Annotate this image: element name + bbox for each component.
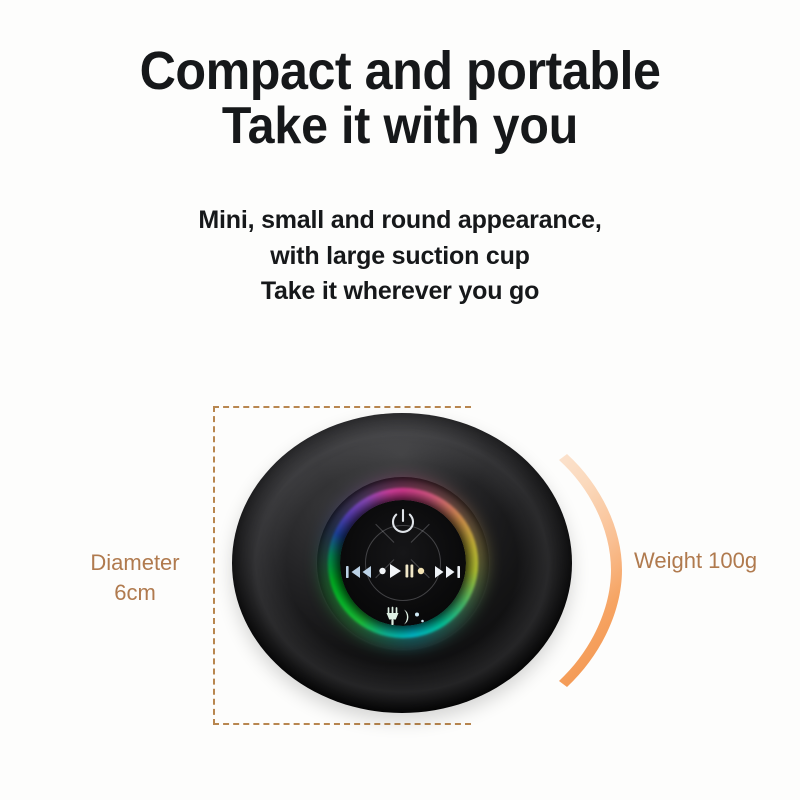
- play-pause-icon[interactable]: [378, 559, 428, 583]
- speaker-product: [232, 413, 572, 713]
- product-infographic: Compact and portable Take it with you Mi…: [0, 0, 800, 800]
- subtitle-line-1: Mini, small and round appearance,: [0, 203, 800, 239]
- previous-track-icon[interactable]: [344, 561, 374, 583]
- weight-label: Weight 100g: [634, 548, 757, 574]
- headline-line-2: Take it with you: [28, 100, 772, 154]
- diameter-label-text: Diameter: [60, 548, 210, 578]
- headline-line-1: Compact and portable: [28, 44, 772, 100]
- diameter-label: Diameter 6cm: [60, 548, 210, 609]
- subtitle-block: Mini, small and round appearance, with l…: [0, 203, 800, 310]
- lamp-icon[interactable]: [382, 605, 428, 629]
- next-track-icon[interactable]: [432, 561, 462, 583]
- power-icon[interactable]: [387, 506, 419, 538]
- subtitle-line-3: Take it wherever you go: [0, 274, 800, 310]
- subtitle-line-2: with large suction cup: [0, 239, 800, 275]
- headline-block: Compact and portable Take it with you: [0, 44, 800, 153]
- diameter-value-text: 6cm: [60, 578, 210, 608]
